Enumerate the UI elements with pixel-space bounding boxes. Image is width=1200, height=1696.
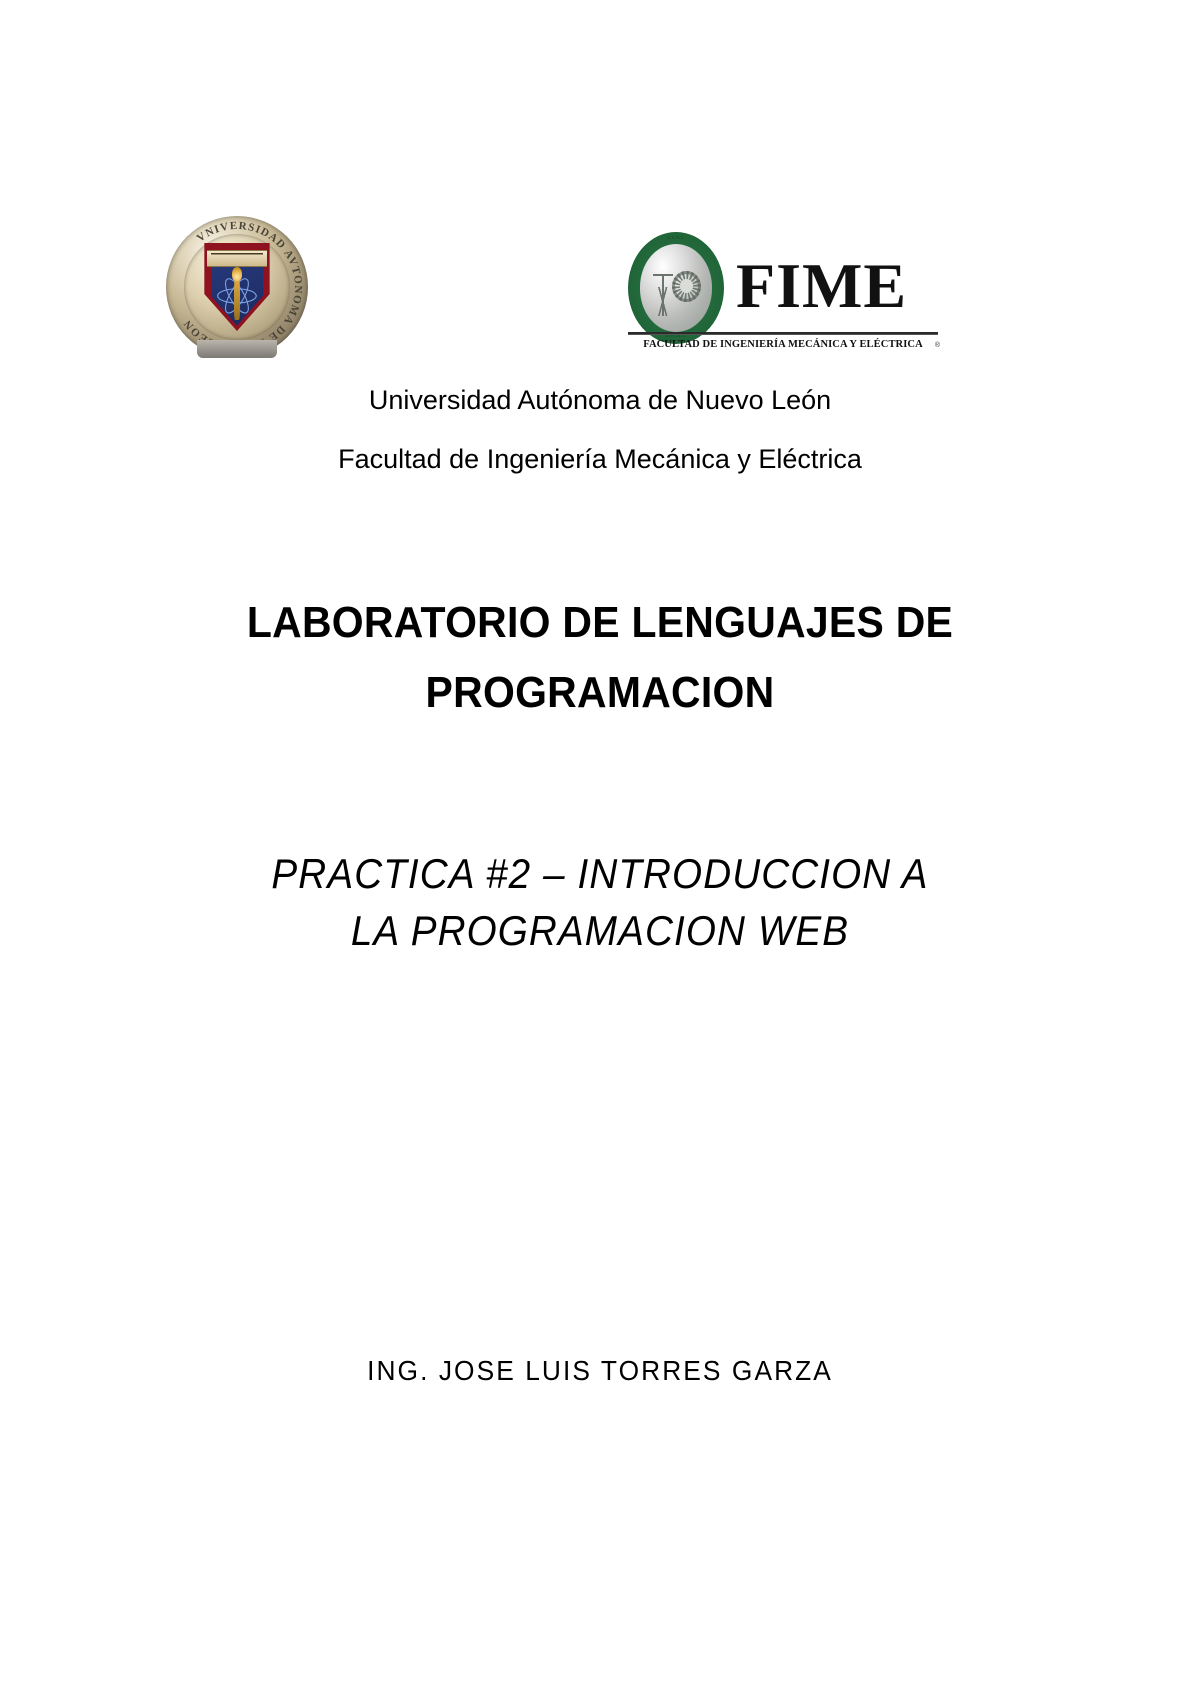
- course-title-line-2: PROGRAMACION: [42, 668, 1158, 718]
- logo-row: VNIVERSIDAD AVTONOMA DE NVEVO LEON: [0, 208, 1200, 368]
- faculty-name: Facultad de Ingeniería Mecánica y Eléctr…: [0, 444, 1200, 475]
- registered-trademark-icon: ®: [935, 342, 940, 349]
- fime-oval-inner: [640, 244, 713, 331]
- banner-motto-lines: [211, 253, 263, 264]
- institution-name: Universidad Autónoma de Nuevo León: [0, 385, 1200, 416]
- gear-icon: [672, 271, 701, 302]
- instructor-name: ING. JOSE LUIS TORRES GARZA: [36, 1355, 1164, 1387]
- shield-banner: [207, 250, 267, 267]
- practice-title-line-1: PRACTICA #2 – INTRODUCCION A: [48, 850, 1152, 898]
- fime-oval-text-top: U.A.N.L.: [627, 236, 725, 240]
- fime-divider-rule: [628, 332, 938, 335]
- uanl-seal-icon: VNIVERSIDAD AVTONOMA DE NVEVO LEON: [166, 216, 308, 358]
- torch-flame-icon: [232, 267, 242, 281]
- fime-wordmark: FIME: [736, 254, 907, 318]
- fime-logo: U.A.N.L. U.A.N.L. FIME FACULTAD DE INGEN…: [628, 222, 938, 362]
- practice-title-line-2: LA PROGRAMACION WEB: [48, 907, 1152, 955]
- document-page: VNIVERSIDAD AVTONOMA DE NVEVO LEON: [0, 0, 1200, 1696]
- seal-base: [197, 340, 277, 358]
- fime-tagline: FACULTAD DE INGENIERÍA MECÁNICA Y ELÉCTR…: [628, 339, 938, 350]
- course-title-line-1: LABORATORIO DE LENGUAJES DE: [42, 598, 1158, 648]
- transmission-tower-icon: [653, 274, 673, 316]
- fime-oval-emblem: U.A.N.L. U.A.N.L.: [628, 232, 724, 344]
- seal-shield: [204, 243, 269, 331]
- shield-field: [211, 261, 263, 326]
